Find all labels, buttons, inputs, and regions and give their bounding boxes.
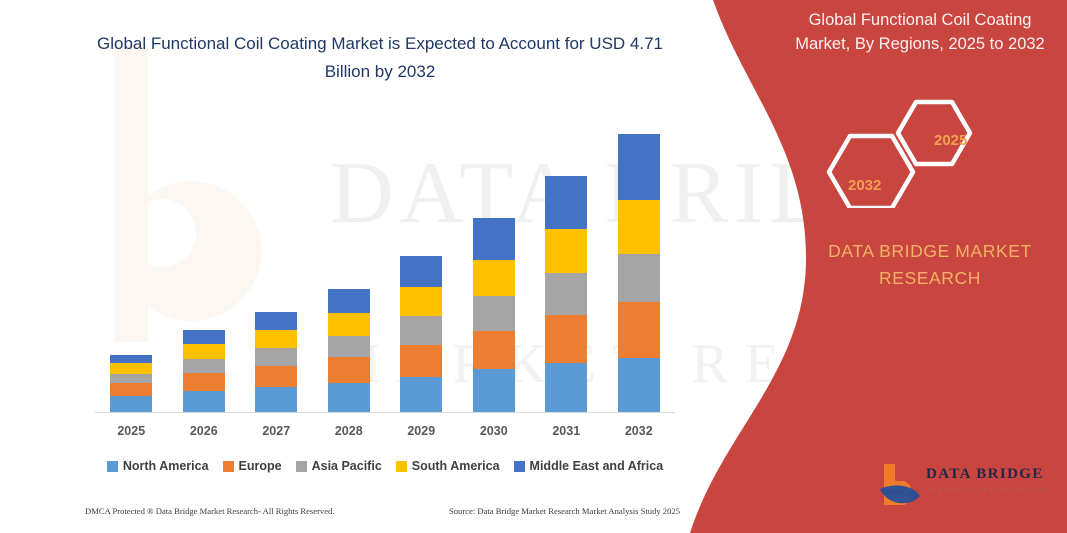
hexagon-label-end-year: 2032 [848,177,881,194]
bar-2027 [255,312,297,412]
logo-tagline: MARKET RESEARCH [927,486,1046,494]
legend-item[interactable]: North America [107,459,209,473]
x-axis-label-2031: 2031 [545,424,587,444]
legend-swatch-icon [296,461,307,472]
bar-segment [328,336,370,357]
x-axis-label-2025: 2025 [110,424,152,444]
company-logo: DATA BRIDGE MARKET RESEARCH [878,462,1058,508]
infographic-canvas: DATA BRIDGE MARKET RESEARCH Global Funct… [0,0,1067,533]
x-axis-label-2029: 2029 [400,424,442,444]
bar-segment [618,134,660,200]
bar-segment [473,369,515,412]
bar-segment [328,313,370,336]
hexagon-outlines [820,88,1000,208]
legend-swatch-icon [223,461,234,472]
x-axis-label-2032: 2032 [618,424,660,444]
chart-legend: North AmericaEuropeAsia PacificSouth Ame… [95,455,675,477]
bar-chart-plot [95,110,675,412]
legend-label: North America [123,459,209,473]
bar-segment [400,256,442,287]
x-axis-labels: 20252026202720282029203020312032 [95,424,675,444]
bar-segment [110,383,152,396]
bar-2032 [618,134,660,412]
legend-label: South America [412,459,500,473]
bar-segment [110,355,152,364]
bar-segment [400,345,442,377]
legend-label: Europe [239,459,282,473]
logo-bridge-icon [878,462,924,506]
legend-swatch-icon [514,461,525,472]
bar-segment [328,289,370,312]
legend-swatch-icon [396,461,407,472]
legend-item[interactable]: Asia Pacific [296,459,382,473]
bar-segment [545,176,587,228]
x-axis-label-2030: 2030 [473,424,515,444]
bar-segment [255,387,297,412]
legend-label: Asia Pacific [312,459,382,473]
bar-segment [400,316,442,345]
bar-segment [183,373,225,391]
x-axis-label-2026: 2026 [183,424,225,444]
bar-segment [255,348,297,365]
page-title: Global Functional Coil Coating Market is… [80,30,680,86]
x-axis-label-2028: 2028 [328,424,370,444]
legend-item[interactable]: Europe [223,459,282,473]
bar-segment [545,229,587,273]
bar-2028 [328,289,370,412]
bar-segment [183,391,225,412]
bar-segment [255,366,297,387]
bar-segment [255,312,297,330]
bar-segment [183,359,225,373]
bar-segment [328,357,370,382]
bar-segment [183,344,225,359]
footer-source: Source: Data Bridge Market Research Mark… [449,506,680,524]
bar-segment [618,302,660,358]
bar-segment [183,330,225,344]
bar-segment [545,273,587,316]
legend-swatch-icon [107,461,118,472]
footer-copyright: DMCA Protected ® Data Bridge Market Rese… [85,506,335,524]
bar-segment [110,374,152,383]
legend-item[interactable]: Middle East and Africa [514,459,664,473]
logo-wordmark: DATA BRIDGE [926,466,1044,483]
bar-2029 [400,256,442,412]
bar-segment [255,330,297,349]
bar-segment [473,218,515,261]
bar-segment [110,363,152,373]
bar-segment [400,287,442,316]
footer: DMCA Protected ® Data Bridge Market Rese… [85,506,680,524]
legend-item[interactable]: South America [396,459,500,473]
bar-segment [545,363,587,412]
x-axis-line [95,412,675,413]
bar-segment [545,315,587,363]
bar-segment [328,383,370,412]
hexagon-badges: 2025 2032 [820,88,1000,208]
bar-segment [400,377,442,413]
bar-2030 [473,218,515,412]
bar-2026 [183,330,225,412]
bar-segment [110,396,152,412]
bar-segment [473,260,515,296]
bar-segment [618,254,660,303]
hexagon-2032-shape [829,136,913,208]
panel-title: Global Functional Coil Coating Market, B… [780,8,1060,56]
x-axis-label-2027: 2027 [255,424,297,444]
bar-segment [618,200,660,254]
legend-label: Middle East and Africa [530,459,664,473]
bar-segment [473,331,515,369]
bar-segment [473,296,515,332]
bar-2025 [110,355,152,412]
brand-name-line-2: RESEARCH [805,265,1055,292]
brand-name: DATA BRIDGE MARKET RESEARCH [805,238,1055,292]
bar-segment [618,358,660,412]
hexagon-label-start-year: 2025 [934,132,967,149]
brand-name-line-1: DATA BRIDGE MARKET [805,238,1055,265]
bar-2031 [545,176,587,412]
